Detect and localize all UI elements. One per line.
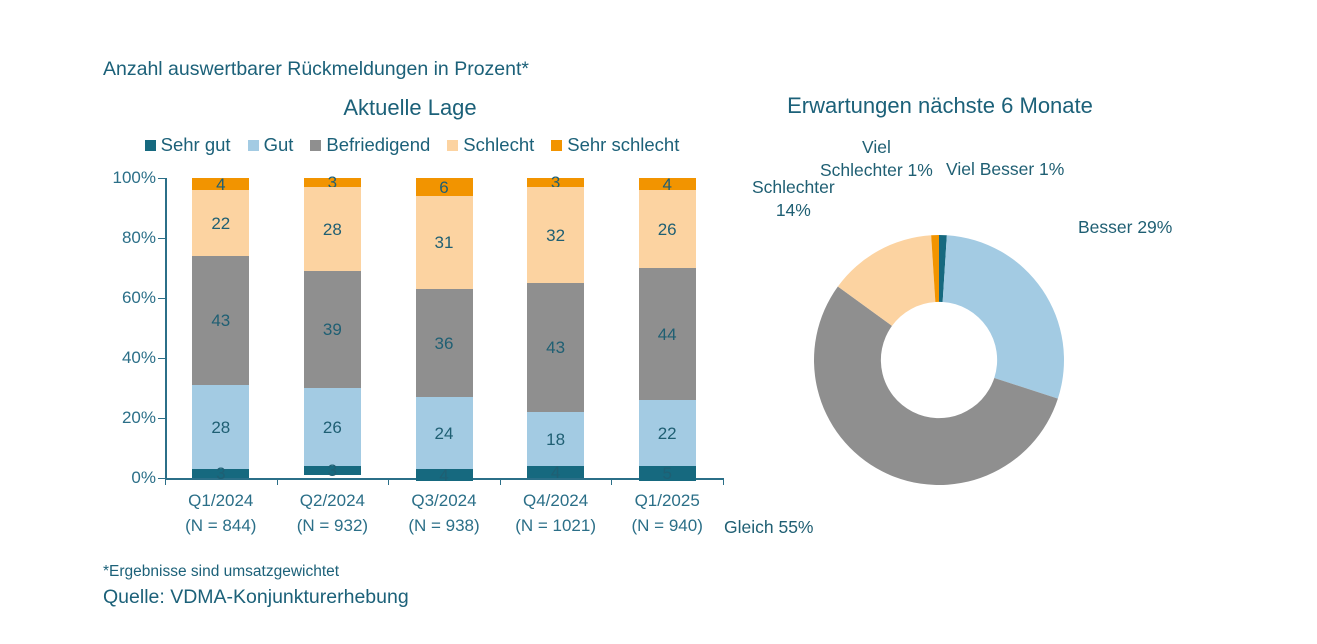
bar-chart-legend: Sehr gutGutBefriedigendSchlechtSehr schl… — [112, 134, 712, 156]
bar-segment[interactable]: 28 — [192, 385, 249, 469]
bar-segment[interactable]: 26 — [304, 388, 361, 466]
overall-subtitle: Anzahl auswertbarer Rückmeldungen in Pro… — [103, 58, 529, 81]
bar-segment[interactable]: 24 — [416, 397, 473, 469]
donut-slice-label-line: Viel Besser 1% — [946, 158, 1064, 181]
bar-segment-value: 44 — [658, 326, 677, 343]
bar-segment-value: 5 — [662, 465, 671, 482]
donut-slice-label-line: Besser 29% — [1078, 216, 1172, 239]
x-axis-tick-mark — [165, 478, 166, 485]
bar-segment[interactable]: 3 — [192, 469, 249, 478]
bar-segment[interactable]: 43 — [192, 256, 249, 385]
x-axis-sample-size-label: (N = 1021) — [491, 514, 621, 539]
legend-swatch-icon — [551, 140, 562, 151]
x-axis-tick-mark — [611, 478, 612, 485]
y-axis-tick-label: 0% — [102, 468, 156, 488]
y-axis-tick-label: 20% — [102, 408, 156, 428]
bar-segment[interactable]: 32 — [527, 187, 584, 283]
donut-slice-label-line: Schlechter 1% — [820, 159, 933, 182]
bar-segment-value: 31 — [435, 234, 454, 251]
legend-swatch-icon — [310, 140, 321, 151]
legend-item-gut[interactable]: Gut — [248, 134, 294, 156]
bar-segment[interactable]: 43 — [527, 283, 584, 412]
bar-segment[interactable]: 36 — [416, 289, 473, 397]
bar-segment[interactable]: 4 — [416, 469, 473, 481]
donut-slice-label-line: Viel — [820, 136, 933, 159]
y-axis-tick-label: 80% — [102, 228, 156, 248]
legend-item-schlecht[interactable]: Schlecht — [447, 134, 534, 156]
legend-swatch-icon — [145, 140, 156, 151]
y-axis-tick-mark — [158, 358, 165, 359]
footnote-text: *Ergebnisse sind umsatzgewichtet — [103, 563, 339, 581]
x-axis-tick-label: Q2/2024(N = 932) — [267, 489, 397, 538]
bar-segment-value: 26 — [323, 419, 342, 436]
donut-slice-label-line: 14% — [752, 199, 835, 222]
bar-segment-value: 3 — [216, 465, 225, 482]
x-axis-tick-label: Q1/2024(N = 844) — [156, 489, 286, 538]
bar-segment[interactable]: 4 — [192, 178, 249, 190]
bar-column[interactable]: 42644225 — [639, 178, 696, 478]
legend-item-sehr-gut[interactable]: Sehr gut — [145, 134, 231, 156]
x-axis-tick-mark — [277, 478, 278, 485]
bar-segment-value: 24 — [435, 425, 454, 442]
x-axis-period-label: Q3/2024 — [379, 489, 509, 514]
bar-segment-value: 18 — [546, 431, 565, 448]
bar-segment[interactable]: 5 — [639, 466, 696, 481]
bar-segment-value: 43 — [211, 312, 230, 329]
bar-segment[interactable]: 31 — [416, 196, 473, 289]
x-axis-tick-label: Q3/2024(N = 938) — [379, 489, 509, 538]
bar-segment-value: 4 — [551, 464, 560, 481]
bar-chart-title: Aktuelle Lage — [200, 95, 620, 121]
bar-segment[interactable]: 28 — [304, 187, 361, 271]
y-axis-tick-mark — [158, 298, 165, 299]
donut-chart-title: Erwartungen nächste 6 Monate — [700, 93, 1180, 119]
bar-segment-value: 28 — [323, 221, 342, 238]
legend-swatch-icon — [248, 140, 259, 151]
x-axis-period-label: Q1/2024 — [156, 489, 286, 514]
donut-chart: Viel Besser 1%Besser 29%Gleich 55%Schlec… — [700, 150, 1220, 570]
x-axis-sample-size-label: (N = 938) — [379, 514, 509, 539]
x-axis-period-label: Q2/2024 — [267, 489, 397, 514]
x-axis-tick-mark — [500, 478, 501, 485]
y-axis-tick-label: 100% — [102, 168, 156, 188]
bar-segment-value: 22 — [211, 215, 230, 232]
legend-swatch-icon — [447, 140, 458, 151]
legend-item-label: Schlecht — [463, 134, 534, 156]
donut-slice-label: Gleich 55% — [724, 516, 814, 539]
donut-slice-label: Besser 29% — [1078, 216, 1172, 239]
bar-segment-value: 43 — [546, 339, 565, 356]
bar-segment[interactable]: 22 — [639, 400, 696, 466]
chart-canvas: Anzahl auswertbarer Rückmeldungen in Pro… — [0, 0, 1317, 644]
bar-segment-value: 6 — [439, 179, 448, 196]
y-axis-tick-mark — [158, 418, 165, 419]
y-axis-tick-mark — [158, 478, 165, 479]
bar-column[interactable]: 42243283 — [192, 178, 249, 478]
x-axis-sample-size-label: (N = 932) — [267, 514, 397, 539]
legend-item-label: Sehr gut — [161, 134, 231, 156]
bar-segment[interactable]: 4 — [527, 466, 584, 478]
donut-slice[interactable] — [943, 235, 1064, 398]
legend-item-befriedigend[interactable]: Befriedigend — [310, 134, 430, 156]
source-text: Quelle: VDMA-Konjunkturerhebung — [103, 586, 409, 609]
x-axis-tick-label: Q4/2024(N = 1021) — [491, 489, 621, 538]
donut-slice-label: Viel Besser 1% — [946, 158, 1064, 181]
bar-segment[interactable]: 44 — [639, 268, 696, 400]
bar-column[interactable]: 63136244 — [416, 178, 473, 478]
bar-segment-value: 26 — [658, 221, 677, 238]
bar-segment[interactable]: 3 — [527, 178, 584, 187]
bar-segment[interactable]: 26 — [639, 190, 696, 268]
donut-slice-label-line: Gleich 55% — [724, 516, 814, 539]
bar-segment[interactable]: 18 — [527, 412, 584, 466]
bar-segment-value: 28 — [211, 419, 230, 436]
bar-segment-value: 36 — [435, 335, 454, 352]
bar-segment[interactable]: 3 — [304, 178, 361, 187]
bar-segment-value: 4 — [439, 467, 448, 484]
legend-item-sehr-schlecht[interactable]: Sehr schlecht — [551, 134, 679, 156]
x-axis-tick-mark — [388, 478, 389, 485]
x-axis-period-label: Q4/2024 — [491, 489, 621, 514]
legend-item-label: Sehr schlecht — [567, 134, 679, 156]
bar-segment[interactable]: 39 — [304, 271, 361, 388]
donut-slice-label: VielSchlechter 1% — [820, 136, 933, 182]
bar-segment-value: 32 — [546, 227, 565, 244]
bar-segment-value: 22 — [658, 425, 677, 442]
x-axis-sample-size-label: (N = 844) — [156, 514, 286, 539]
bar-segment[interactable]: 4 — [639, 178, 696, 190]
bar-segment[interactable]: 3 — [304, 466, 361, 475]
y-axis-tick-mark — [158, 238, 165, 239]
y-axis-tick-mark — [158, 178, 165, 179]
bar-segment[interactable]: 22 — [192, 190, 249, 256]
bar-column[interactable]: 32839263 — [304, 178, 361, 478]
legend-item-label: Befriedigend — [326, 134, 430, 156]
donut-slice-label: Schlechter14% — [752, 176, 835, 222]
y-axis-tick-label: 40% — [102, 348, 156, 368]
bar-column[interactable]: 33243184 — [527, 178, 584, 478]
bar-segment[interactable]: 6 — [416, 178, 473, 196]
bar-segment-value: 3 — [328, 462, 337, 479]
y-axis-tick-label: 60% — [102, 288, 156, 308]
stacked-bar-chart: 0%20%40%60%80%100%42243283Q1/2024(N = 84… — [103, 170, 723, 490]
bar-segment-value: 39 — [323, 321, 342, 338]
legend-item-label: Gut — [264, 134, 294, 156]
y-axis-line — [165, 178, 167, 478]
